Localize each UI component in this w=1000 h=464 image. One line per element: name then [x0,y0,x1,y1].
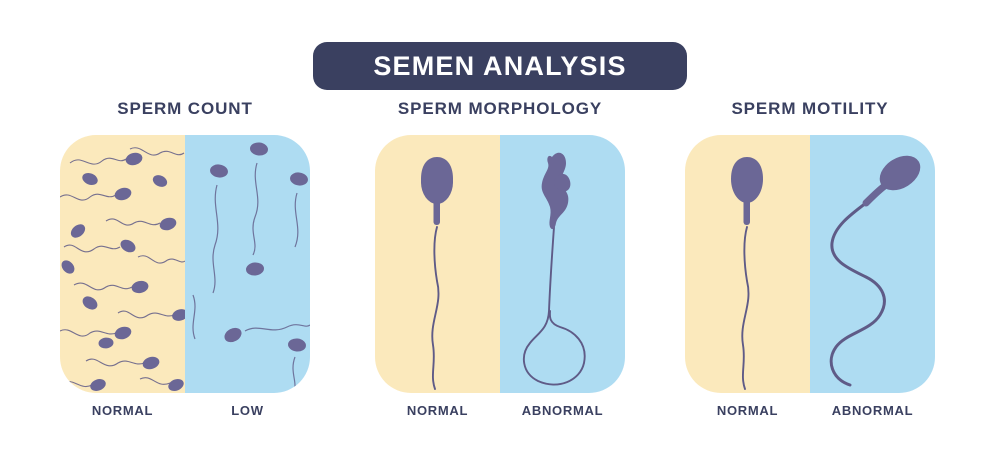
panel-sperm-motility: SPERM MOTILITY NORMAL ABNORMAL [685,100,935,417]
panel-sperm-morphology: SPERM MORPHOLOGY NORMAL ABNORMAL [375,100,625,417]
label-morph-normal: NORMAL [375,404,500,417]
sperm-motility-abnormal-illustration [810,135,935,393]
panel-heading-sperm-morphology: SPERM MORPHOLOGY [375,100,625,122]
panel-half-morph-abnormal [500,135,625,393]
title-banner: SEMEN ANALYSIS [313,42,687,90]
sperm-morphology-normal-illustration [375,135,500,393]
panel-half-morph-normal [375,135,500,393]
panel-card-sperm-count [60,135,310,393]
sperm-morphology-abnormal-illustration [500,135,625,393]
label-motility-abnormal: ABNORMAL [810,404,935,417]
panel-heading-sperm-count: SPERM COUNT [60,100,310,122]
label-morph-abnormal: ABNORMAL [500,404,625,417]
sperm-motility-normal-illustration [685,135,810,393]
label-motility-normal: NORMAL [685,404,810,417]
panel-half-motility-abnormal [810,135,935,393]
panel-heading-sperm-motility: SPERM MOTILITY [685,100,935,122]
panel-half-count-normal [60,135,185,393]
panel-sperm-count: SPERM COUNT [60,100,310,417]
sperm-count-low-illustration [185,135,310,393]
label-count-normal: NORMAL [60,404,185,417]
label-count-low: LOW [185,404,310,417]
panel-card-sperm-morphology [375,135,625,393]
labels-row-sperm-morphology: NORMAL ABNORMAL [375,404,625,417]
sperm-count-normal-illustration [60,135,185,393]
labels-row-sperm-motility: NORMAL ABNORMAL [685,404,935,417]
page-title: SEMEN ANALYSIS [373,53,626,80]
panel-half-motility-normal [685,135,810,393]
panel-half-count-low [185,135,310,393]
panel-card-sperm-motility [685,135,935,393]
labels-row-sperm-count: NORMAL LOW [60,404,310,417]
